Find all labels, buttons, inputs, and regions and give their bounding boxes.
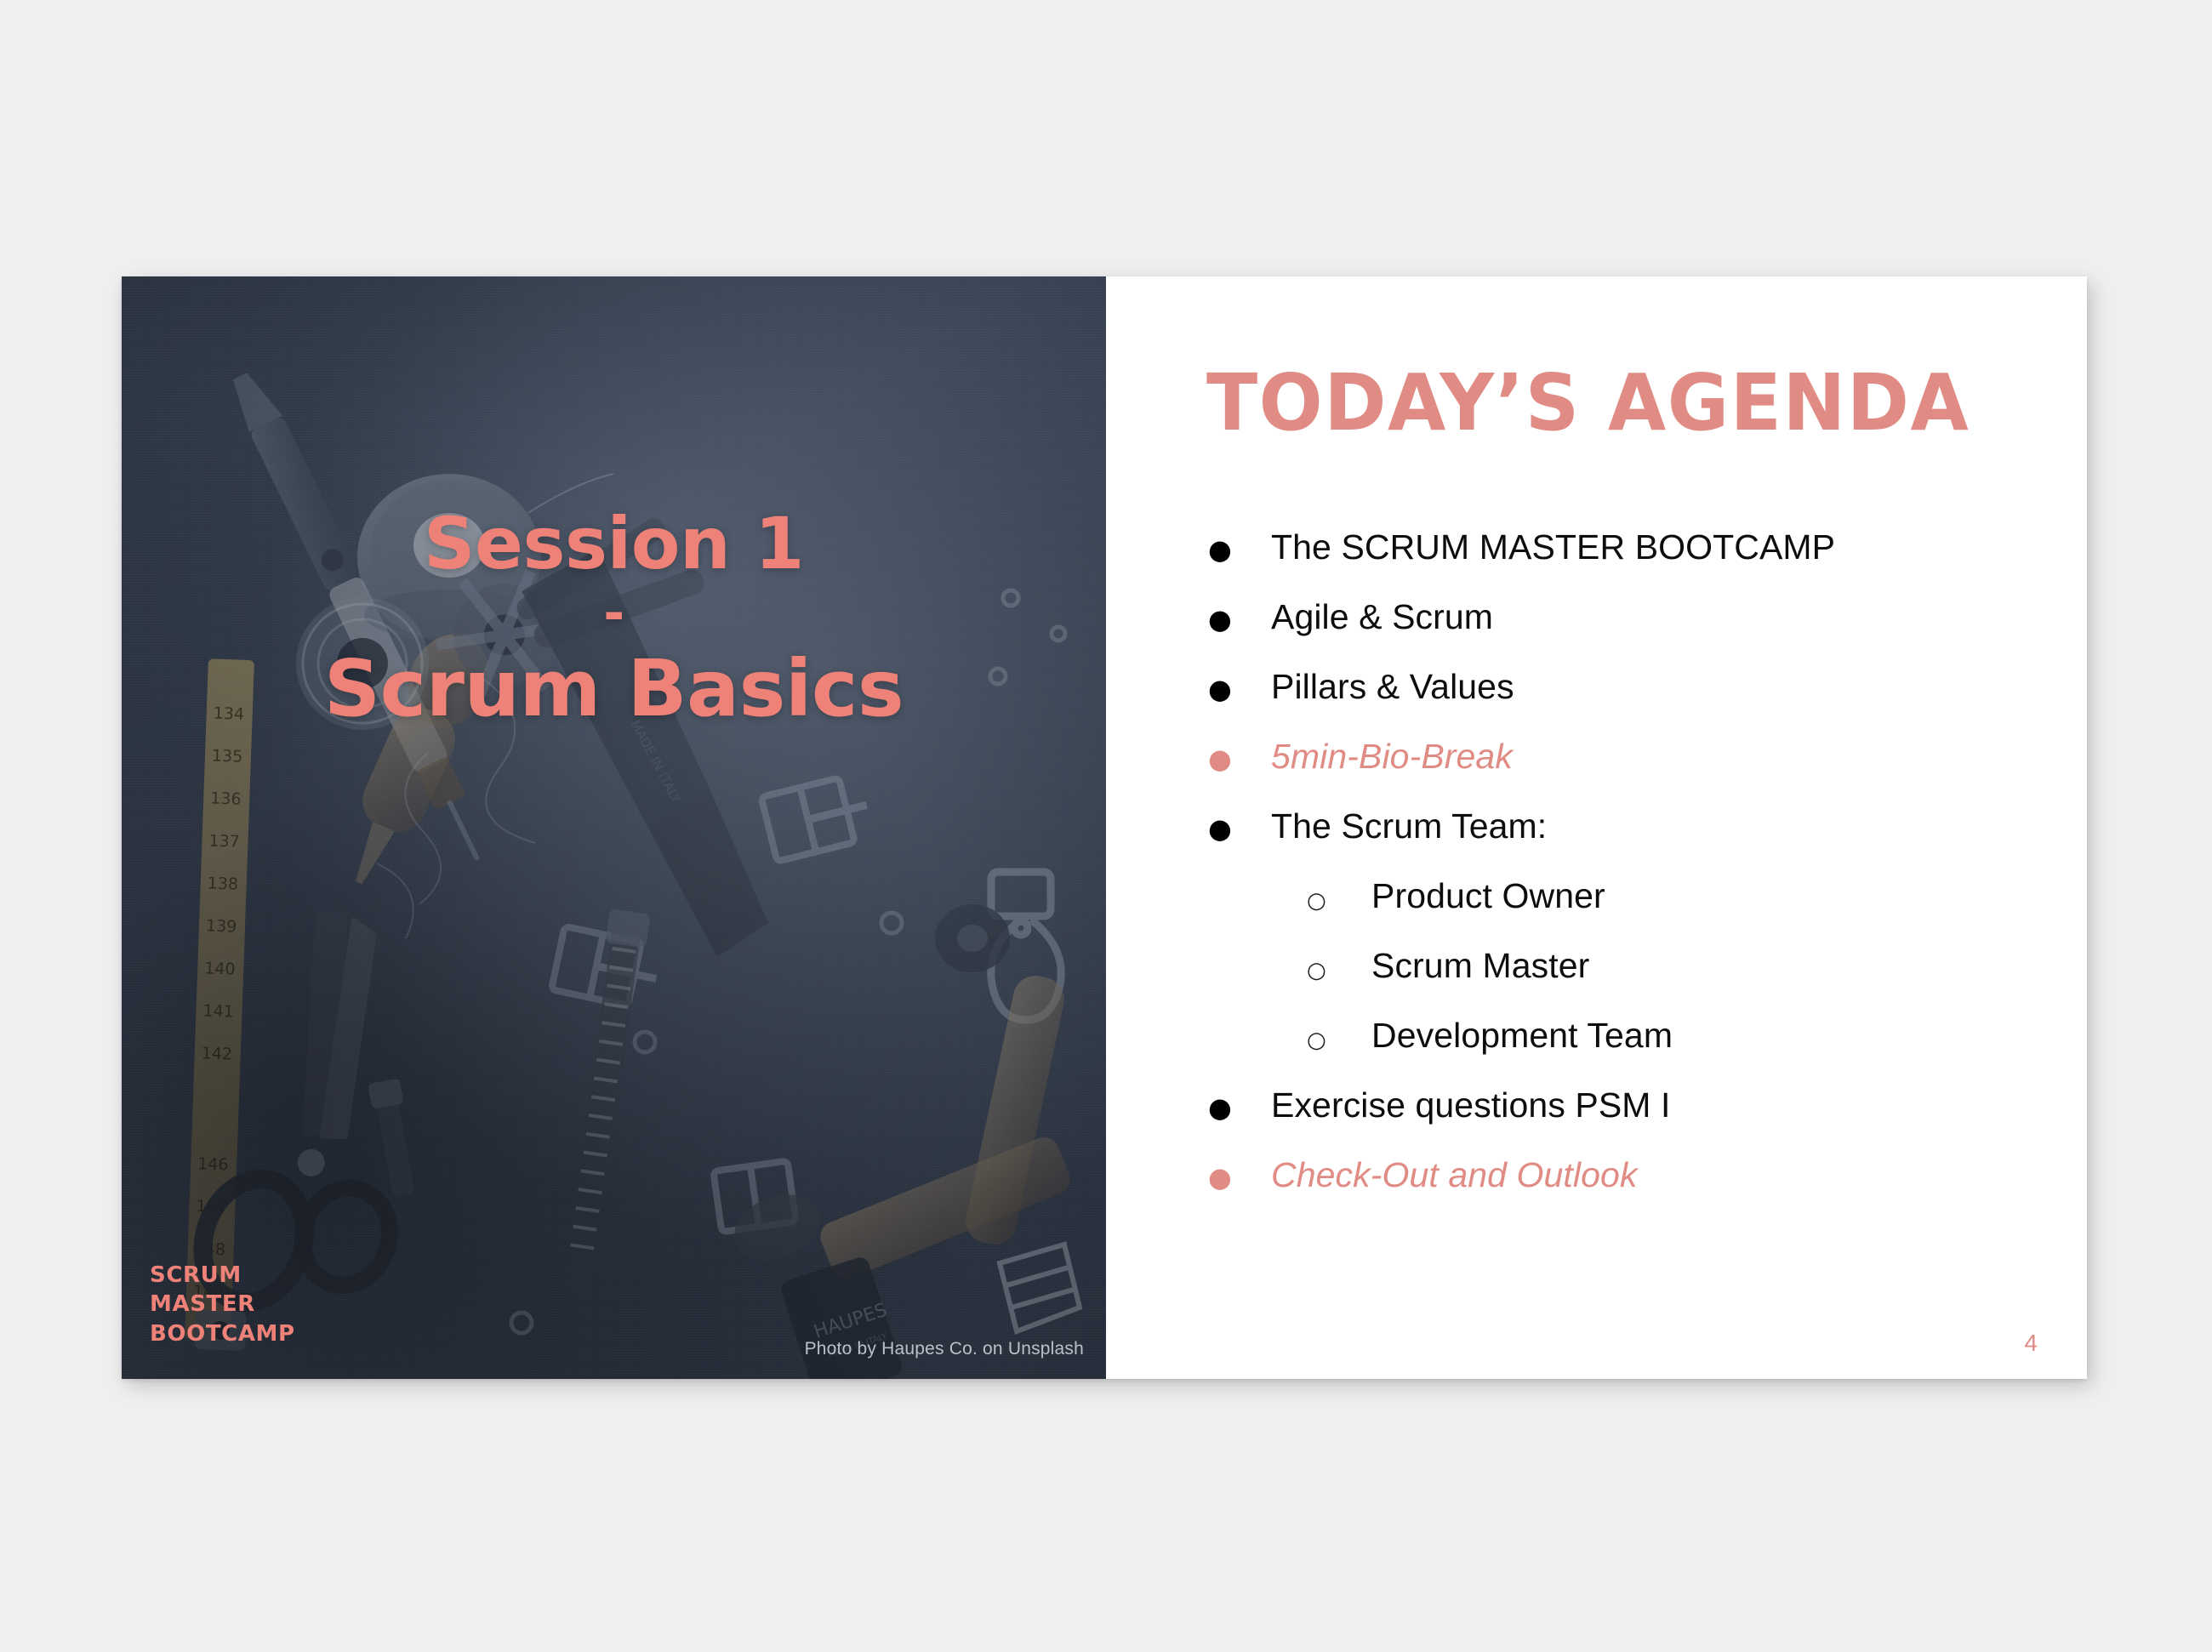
slide-canvas: MADE IN ITALY [0,0,2212,1652]
agenda-item-label: Agile & Scrum [1271,600,1957,635]
hollow-bullet-icon: ○ [1307,1029,1371,1051]
agenda-item: ●Check-Out and Outlook [1208,1158,1957,1228]
slide-photo-panel: MADE IN ITALY [122,276,1106,1379]
agenda-item-label: Check-Out and Outlook [1271,1158,1957,1193]
session-title: Session 1 - Scrum Basics [122,508,1106,731]
agenda-item-label: Product Owner [1371,879,1957,914]
agenda-item-label: 5min-Bio-Break [1271,739,1957,774]
presentation-slide: MADE IN ITALY [122,276,2087,1379]
session-title-line2: Scrum Basics [122,648,1106,731]
bullet-icon: ● [1208,536,1271,563]
brand-logo-line-3: BOOTCAMP [150,1319,295,1348]
page-title: TODAY’S AGENDA [1206,364,1970,442]
agenda-item: ●Pillars & Values [1208,669,1957,739]
agenda-item-label: Development Team [1371,1018,1957,1053]
agenda-item-label: The SCRUM MASTER BOOTCAMP [1271,530,1957,565]
agenda-item: ●The SCRUM MASTER BOOTCAMP [1208,530,1957,600]
agenda-item: ●The Scrum Team: [1208,809,1957,879]
photo-credit: Photo by Haupes Co. on Unsplash [805,1339,1084,1359]
bullet-icon: ● [1208,815,1271,842]
agenda-list: ●The SCRUM MASTER BOOTCAMP●Agile & Scrum… [1208,530,1957,1228]
hollow-bullet-icon: ○ [1307,960,1371,982]
agenda-item-label: Pillars & Values [1271,669,1957,704]
agenda-item-label: The Scrum Team: [1271,809,1957,844]
bullet-icon: ● [1208,1094,1271,1121]
page-number: 4 [2024,1331,2038,1355]
bullet-icon: ● [1208,1164,1271,1191]
session-title-line1: Session 1 [424,502,804,585]
brand-logo-line-2: MASTER [150,1290,295,1319]
bullet-icon: ● [1208,606,1271,633]
session-title-dash: - [122,579,1106,648]
brand-logo-line-1: SCRUM [150,1261,295,1290]
agenda-sub-item: ○Development Team [1208,1018,1957,1088]
brand-logo: SCRUM MASTER BOOTCAMP [150,1261,295,1348]
bullet-icon: ● [1208,745,1271,772]
agenda-sub-item: ○Product Owner [1208,879,1957,948]
slide-content-panel: TODAY’S AGENDA ●The SCRUM MASTER BOOTCAM… [1106,276,2087,1379]
agenda-item: ●Agile & Scrum [1208,600,1957,669]
agenda-sub-item: ○Scrum Master [1208,948,1957,1018]
agenda-item: ●Exercise questions PSM I [1208,1088,1957,1158]
agenda-item: ●5min-Bio-Break [1208,739,1957,809]
photo-vignette [122,276,1106,1379]
hollow-bullet-icon: ○ [1307,890,1371,912]
agenda-item-label: Exercise questions PSM I [1271,1088,1957,1123]
bullet-icon: ● [1208,675,1271,703]
agenda-item-label: Scrum Master [1371,948,1957,983]
